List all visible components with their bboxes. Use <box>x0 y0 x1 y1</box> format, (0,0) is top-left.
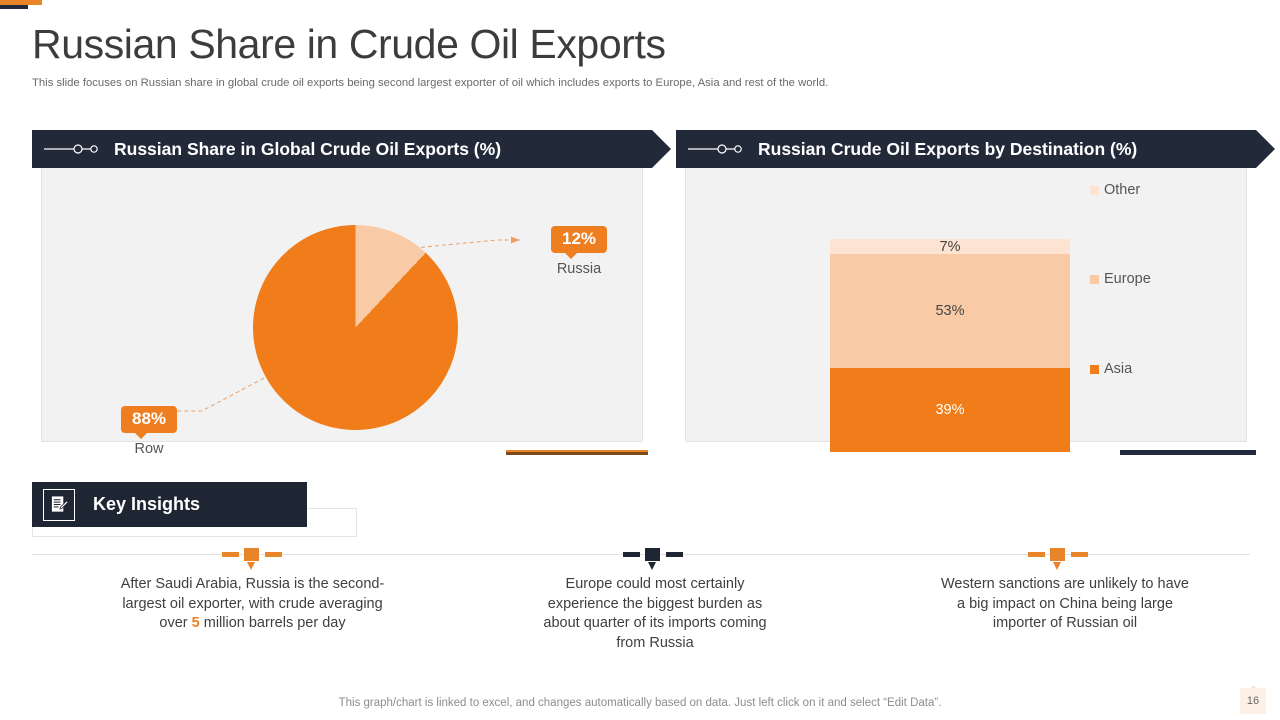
legend-item-asia: Asia <box>1090 361 1132 377</box>
timeline-marker-2 <box>623 548 683 572</box>
key-insights-banner: Key Insights <box>32 482 307 527</box>
timeline-marker-1 <box>222 548 282 572</box>
insight-item-1: After Saudi Arabia, Russia is the second… <box>120 575 385 634</box>
pie-label-row: Row <box>94 441 204 457</box>
timeline-marker-2-square <box>645 548 660 561</box>
page-number-text: 16 <box>1247 695 1259 707</box>
insight-item-2: Europe could most certainly experience t… <box>530 575 780 653</box>
legend-item-europe: Europe <box>1090 271 1151 287</box>
left-panel-underline <box>506 450 648 455</box>
pie-value-badge-row: 88% <box>121 406 177 433</box>
legend-swatch-other-icon <box>1090 186 1099 195</box>
right-panel-body: 7% 53% 39% Other Europe Asia <box>685 168 1247 442</box>
right-panel-banner: Russian Crude Oil Exports by Destination… <box>676 130 1256 168</box>
pie-value-badge-russia: 12% <box>551 226 607 253</box>
right-panel-title: Russian Crude Oil Exports by Destination… <box>758 139 1137 160</box>
page-number-badge: 16 <box>1240 688 1266 714</box>
page-title: Russian Share in Crude Oil Exports <box>32 22 1248 67</box>
footer-note: This graph/chart is linked to excel, and… <box>0 697 1280 709</box>
timeline-marker-2-pointer-icon <box>648 562 656 570</box>
key-insights-title: Key Insights <box>93 494 200 515</box>
insight-2-text: Europe could most certainly experience t… <box>543 576 766 651</box>
note-pencil-icon <box>43 489 75 521</box>
timeline-marker-2-bar-right <box>666 552 683 557</box>
line-two-circles-icon <box>688 143 744 155</box>
timeline-marker-1-bar-left <box>222 552 239 557</box>
legend-label-other: Other <box>1104 182 1140 198</box>
right-panel-underline <box>1120 450 1256 455</box>
page-subtitle: This slide focuses on Russian share in g… <box>32 77 1248 91</box>
insight-1-text-after: million barrels per day <box>200 615 346 631</box>
pie-label-russia: Russia <box>524 261 634 277</box>
left-panel-banner: Russian Share in Global Crude Oil Export… <box>32 130 652 168</box>
insight-3-text: Western sanctions are unlikely to have a… <box>941 576 1189 631</box>
pie-callout-row: 88% Row <box>94 406 204 457</box>
insight-item-3: Western sanctions are unlikely to have a… <box>935 575 1195 634</box>
timeline-marker-3-square <box>1050 548 1065 561</box>
pie-callout-russia: 12% Russia <box>524 226 634 277</box>
pie-slices <box>253 225 458 430</box>
timeline-marker-3-bar-right <box>1071 552 1088 557</box>
right-chart-panel: Russian Crude Oil Exports by Destination… <box>676 130 1256 442</box>
slide-header: Russian Share in Crude Oil Exports This … <box>32 22 1248 91</box>
legend-label-europe: Europe <box>1104 271 1151 287</box>
bar-segment-europe-value: 53% <box>935 303 964 319</box>
bar-segment-other-value: 7% <box>940 239 961 255</box>
bar-segment-asia-value: 39% <box>935 402 964 418</box>
legend-label-asia: Asia <box>1104 361 1132 377</box>
bar-segment-europe: 53% <box>830 254 1070 368</box>
left-chart-panel: Russian Share in Global Crude Oil Export… <box>32 130 652 442</box>
corner-accent-dark-bar <box>0 5 28 9</box>
pie-chart <box>253 225 458 430</box>
timeline-marker-2-bar-left <box>623 552 640 557</box>
timeline-marker-1-bar-right <box>265 552 282 557</box>
legend-swatch-asia-icon <box>1090 365 1099 374</box>
insight-1-highlight: 5 <box>192 615 200 631</box>
timeline-marker-1-square <box>244 548 259 561</box>
timeline-marker-3-pointer-icon <box>1053 562 1061 570</box>
bar-segment-other: 7% <box>830 239 1070 254</box>
timeline-marker-3-bar-left <box>1028 552 1045 557</box>
bar-segment-asia: 39% <box>830 368 1070 452</box>
legend-item-other: Other <box>1090 182 1140 198</box>
line-two-circles-icon <box>44 143 100 155</box>
legend-swatch-europe-icon <box>1090 275 1099 284</box>
stacked-bar-chart: 7% 53% 39% <box>830 239 1070 454</box>
left-panel-title: Russian Share in Global Crude Oil Export… <box>114 139 501 160</box>
timeline-marker-3 <box>1028 548 1088 572</box>
timeline-marker-1-pointer-icon <box>247 562 255 570</box>
left-panel-body: 12% Russia 88% Row <box>41 168 643 442</box>
